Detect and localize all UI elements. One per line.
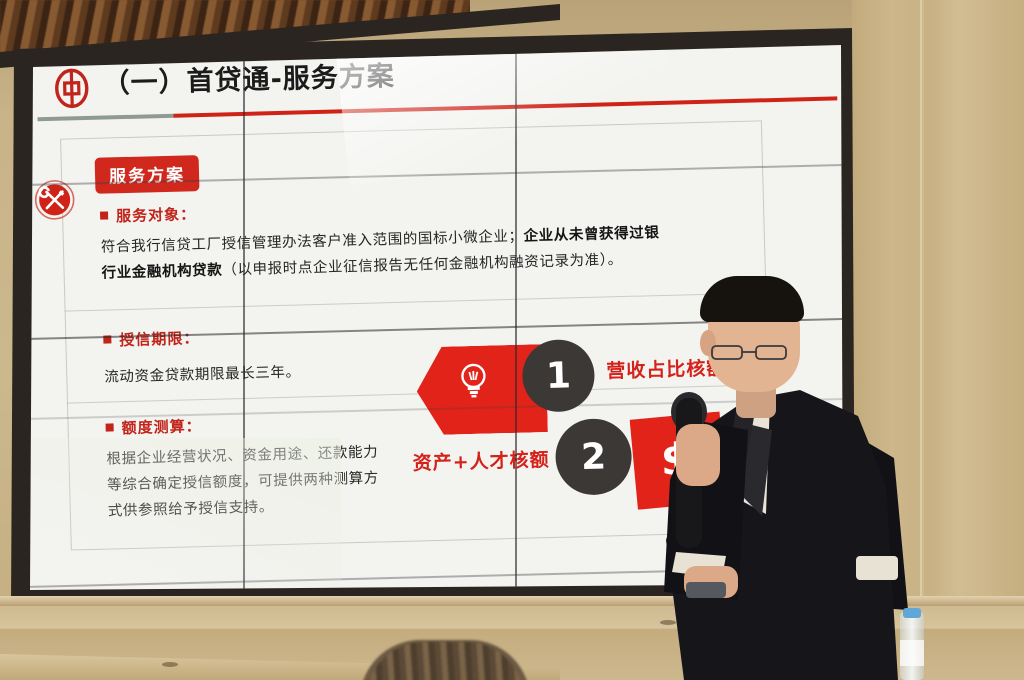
presenter-hand-holding-mic — [676, 424, 720, 486]
section-line-2: （以申报时点企业征信报告无任何金融机构融资记录为准）。 — [222, 252, 623, 278]
water-bottle-cap — [903, 608, 921, 618]
presentation-clicker — [686, 582, 726, 598]
service-plan-badge: 服务方案 — [95, 155, 200, 194]
presentation-photo-scene: （一）首贷通-服务方案 服务方案 服务对象： — [0, 0, 1024, 680]
section-line-2-bold: 行业金融机构贷款 — [101, 263, 222, 282]
bank-of-china-logo — [54, 68, 89, 109]
water-bottle-label — [900, 640, 924, 666]
presenter-hair — [700, 276, 804, 322]
section-line-1-bold: 企业从未曾获得过银 — [523, 225, 659, 245]
presenter-cuff — [856, 556, 898, 580]
graphic-label-2: 资产+人才核额 — [412, 445, 550, 476]
panel-seam — [243, 28, 245, 608]
bullet-square-icon — [100, 211, 108, 219]
section-service-target: 服务对象： 符合我行信贷工厂授信管理办法客户准入范围的国标小微企业；企业从未曾获… — [100, 189, 742, 287]
eyeglasses-icon — [710, 344, 790, 360]
bullet-square-icon — [106, 423, 114, 431]
panel-seam — [515, 28, 517, 608]
title-underline — [38, 96, 838, 121]
lightbulb-icon — [458, 362, 489, 401]
